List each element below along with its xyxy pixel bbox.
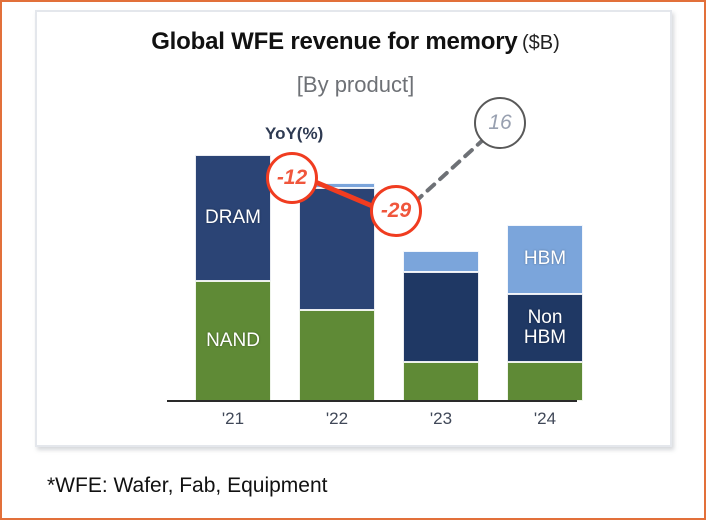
bar-segment-hbm [403, 251, 479, 272]
bar-group-y24: HBMNon HBM [507, 225, 583, 401]
slide-frame: Global WFE revenue for memory ($B) [By p… [0, 0, 706, 520]
yoy-line-forecast [415, 139, 484, 202]
bar-segment-label: NAND [206, 331, 260, 351]
bar-segment-nand [299, 310, 375, 401]
x-tick-y23: '23 [403, 409, 479, 429]
bar-group-y23 [403, 251, 479, 401]
bar-segment-nand [403, 362, 479, 401]
yoy-bubble-2024-forecast: 16 [474, 97, 526, 149]
bar-group-y22 [299, 183, 375, 401]
x-tick-y21: '21 [195, 409, 271, 429]
footnote: *WFE: Wafer, Fab, Equipment [47, 474, 328, 498]
bar-segment-dram [299, 188, 375, 310]
bar-segment-label: HBM [524, 249, 566, 269]
bar-segment-nonhbm: Non HBM [507, 294, 583, 362]
bar-segment-label: DRAM [205, 208, 261, 228]
x-tick-y24: '24 [507, 409, 583, 429]
bar-segment-dram: DRAM [195, 155, 271, 281]
yoy-bubble-2023: -29 [370, 185, 422, 237]
bar-segment-hbm: HBM [507, 225, 583, 294]
bar-group-y21: DRAMNAND [195, 155, 271, 401]
x-axis-line [167, 400, 577, 402]
chart-panel: Global WFE revenue for memory ($B) [By p… [35, 10, 672, 447]
bar-segment-label: Non HBM [524, 308, 566, 349]
plot-area: DRAMNANDHBMNon HBM '21'22'23'24 YoY(%) -… [37, 12, 674, 449]
x-tick-y22: '22 [299, 409, 375, 429]
bar-segment-nand [507, 362, 583, 401]
yoy-bubble-2022: -12 [266, 152, 318, 204]
yoy-caption: YoY(%) [265, 124, 323, 144]
bar-segment-nand: NAND [195, 281, 271, 401]
bar-segment-nonhbm [403, 272, 479, 362]
